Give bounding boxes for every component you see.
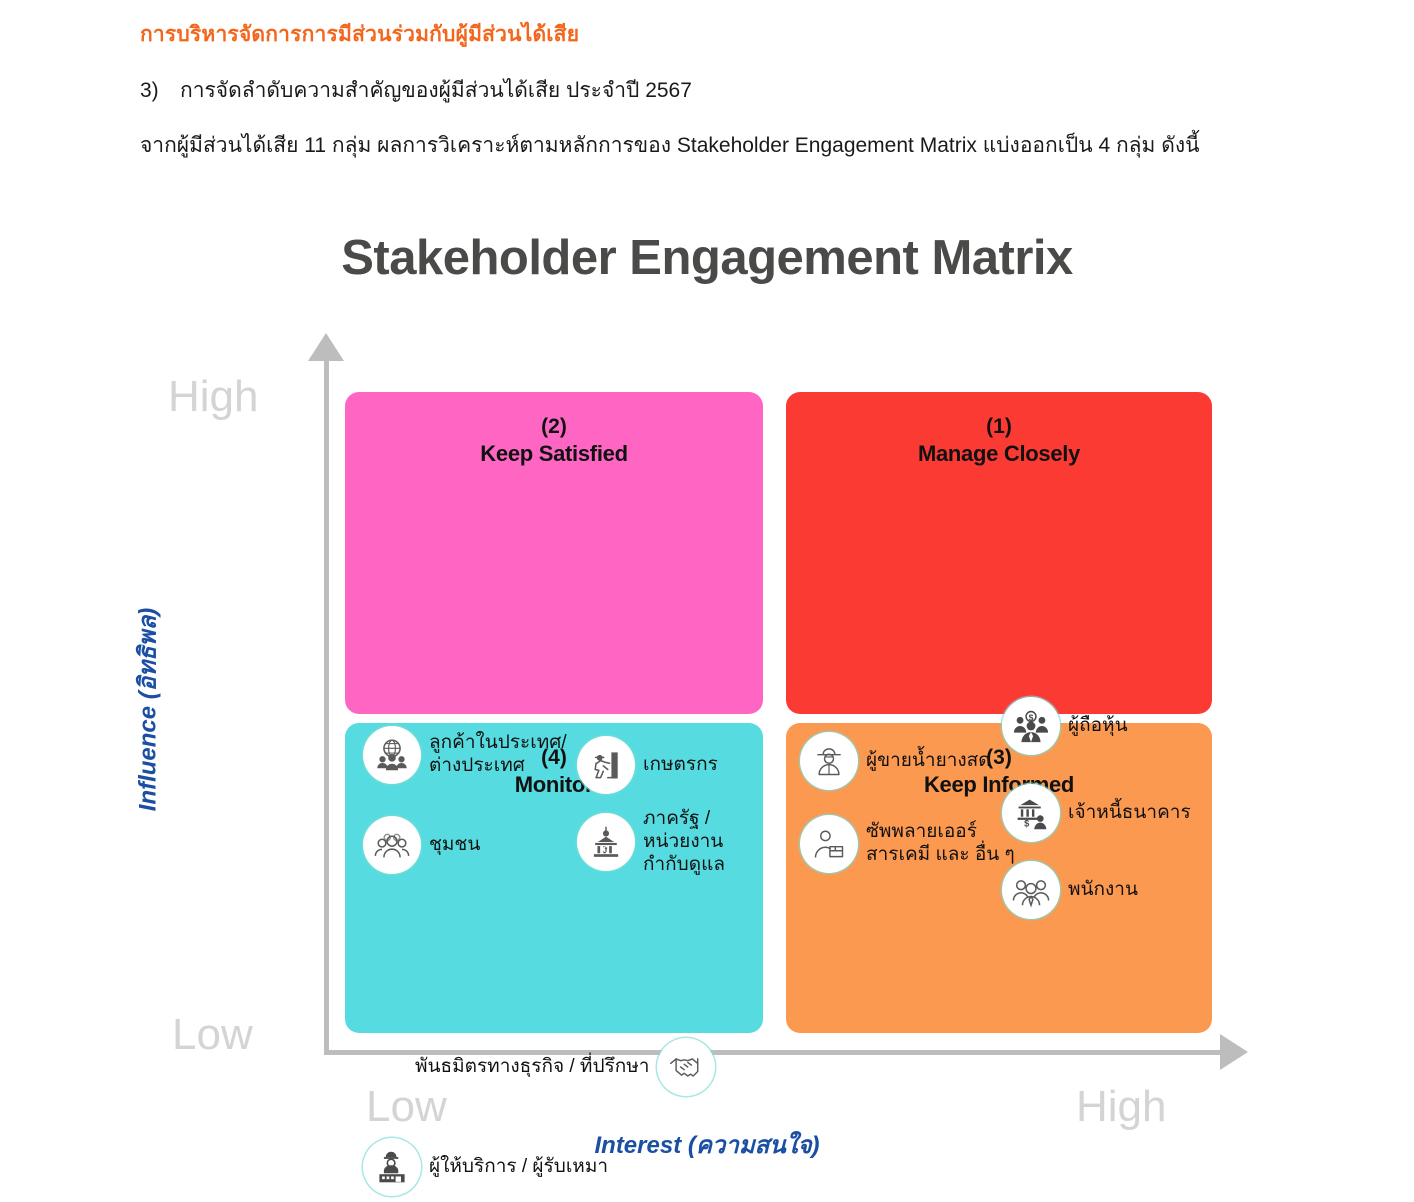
quadrant-header: (2) Keep Satisfied bbox=[345, 414, 763, 468]
y-axis-tick-high: High bbox=[168, 372, 259, 422]
stakeholder-chip-latex-seller: ผู้ขายน้ำยางสด bbox=[800, 732, 991, 790]
stakeholder-chip-shareholders: $ ผู้ถือหุ้น bbox=[1002, 697, 1128, 755]
government-building-icon bbox=[577, 813, 635, 871]
farmer-rubber-tree-icon bbox=[577, 736, 635, 794]
y-axis-line bbox=[324, 355, 329, 1055]
stakeholder-label: เจ้าหนี้ธนาคาร bbox=[1068, 802, 1191, 825]
y-axis-arrow-icon bbox=[308, 333, 344, 361]
y-axis-title: Influence (อิทธิพล) bbox=[128, 545, 167, 875]
bank-creditor-icon: $ bbox=[1002, 784, 1060, 842]
employees-group-icon bbox=[1002, 861, 1060, 919]
stakeholder-chip-business-partner: พันธมิตรทางธุรกิจ / ที่ปรึกษา bbox=[415, 1038, 715, 1096]
page-title: การบริหารจัดการการมีส่วนร่วมกับผู้มีส่วน… bbox=[140, 18, 579, 51]
stakeholder-engagement-matrix: Stakeholder Engagement Matrix High Low L… bbox=[0, 210, 1414, 1170]
quadrant-header: (1) Manage Closely bbox=[786, 414, 1212, 468]
stakeholder-label: พนักงาน bbox=[1068, 879, 1138, 902]
stakeholder-label: ภาครัฐ / หน่วยงาน กำกับดูแล bbox=[643, 808, 725, 876]
community-people-icon bbox=[363, 816, 421, 874]
contractor-worker-icon bbox=[363, 1138, 421, 1196]
quadrant-number: (1) bbox=[786, 414, 1212, 440]
stakeholder-label: ผู้ถือหุ้น bbox=[1068, 715, 1128, 738]
stakeholder-chip-community: ชุมชน bbox=[363, 816, 480, 874]
quadrant-name: Keep Satisfied bbox=[345, 440, 763, 468]
stakeholder-chip-farmers: เกษตรกร bbox=[577, 736, 718, 794]
list-item-text: การจัดลำดับความสำคัญของผู้มีส่วนได้เสีย … bbox=[180, 79, 692, 102]
stakeholder-label: เกษตรกร bbox=[643, 754, 718, 777]
y-axis-tick-low: Low bbox=[172, 1010, 253, 1060]
stakeholder-chip-contractor: ผู้ให้บริการ / ผู้รับเหมา bbox=[363, 1138, 608, 1196]
latex-seller-farmer-icon bbox=[800, 732, 858, 790]
stakeholder-label: พันธมิตรทางธุรกิจ / ที่ปรึกษา bbox=[415, 1056, 649, 1079]
svg-text:$: $ bbox=[1024, 818, 1030, 828]
stakeholder-label: ลูกค้าในประเทศ/ ต่างประเทศ bbox=[429, 732, 567, 778]
stakeholder-chip-customers: ลูกค้าในประเทศ/ ต่างประเทศ bbox=[363, 726, 567, 784]
quadrant-number: (2) bbox=[345, 414, 763, 440]
stakeholder-label: ชุมชน bbox=[429, 834, 480, 857]
x-axis-arrow-icon bbox=[1220, 1034, 1248, 1070]
stakeholder-chip-supplier: ซัพพลายเออร์ สารเคมี และ อื่น ๆ bbox=[800, 815, 1015, 873]
stakeholder-chip-bank-creditor: $ เจ้าหนี้ธนาคาร bbox=[1002, 784, 1191, 842]
shareholders-money-icon: $ bbox=[1002, 697, 1060, 755]
quadrant-keep-satisfied: (2) Keep Satisfied bbox=[345, 392, 763, 714]
document-list-item: 3)การจัดลำดับความสำคัญของผู้มีส่วนได้เสี… bbox=[140, 74, 692, 107]
matrix-title: Stakeholder Engagement Matrix bbox=[0, 230, 1414, 286]
stakeholder-chip-employees: พนักงาน bbox=[1002, 861, 1138, 919]
stakeholder-label: ผู้ขายน้ำยางสด bbox=[866, 750, 991, 773]
stakeholder-label: ซัพพลายเออร์ สารเคมี และ อื่น ๆ bbox=[866, 821, 1015, 867]
globe-people-icon bbox=[363, 726, 421, 784]
quadrant-name: Manage Closely bbox=[786, 440, 1212, 468]
handshake-icon bbox=[657, 1038, 715, 1096]
x-axis-title: Interest (ความสนใจ) bbox=[0, 1125, 1414, 1164]
stakeholder-label: ผู้ให้บริการ / ผู้รับเหมา bbox=[429, 1156, 608, 1179]
stakeholder-chip-government: ภาครัฐ / หน่วยงาน กำกับดูแล bbox=[577, 808, 725, 876]
quadrant-manage-closely: (1) Manage Closely bbox=[786, 392, 1212, 714]
supplier-delivery-icon bbox=[800, 815, 858, 873]
list-item-number: 3) bbox=[140, 79, 180, 103]
svg-text:$: $ bbox=[1029, 712, 1034, 722]
document-paragraph: จากผู้มีส่วนได้เสีย 11 กลุ่ม ผลการวิเครา… bbox=[140, 130, 1300, 162]
